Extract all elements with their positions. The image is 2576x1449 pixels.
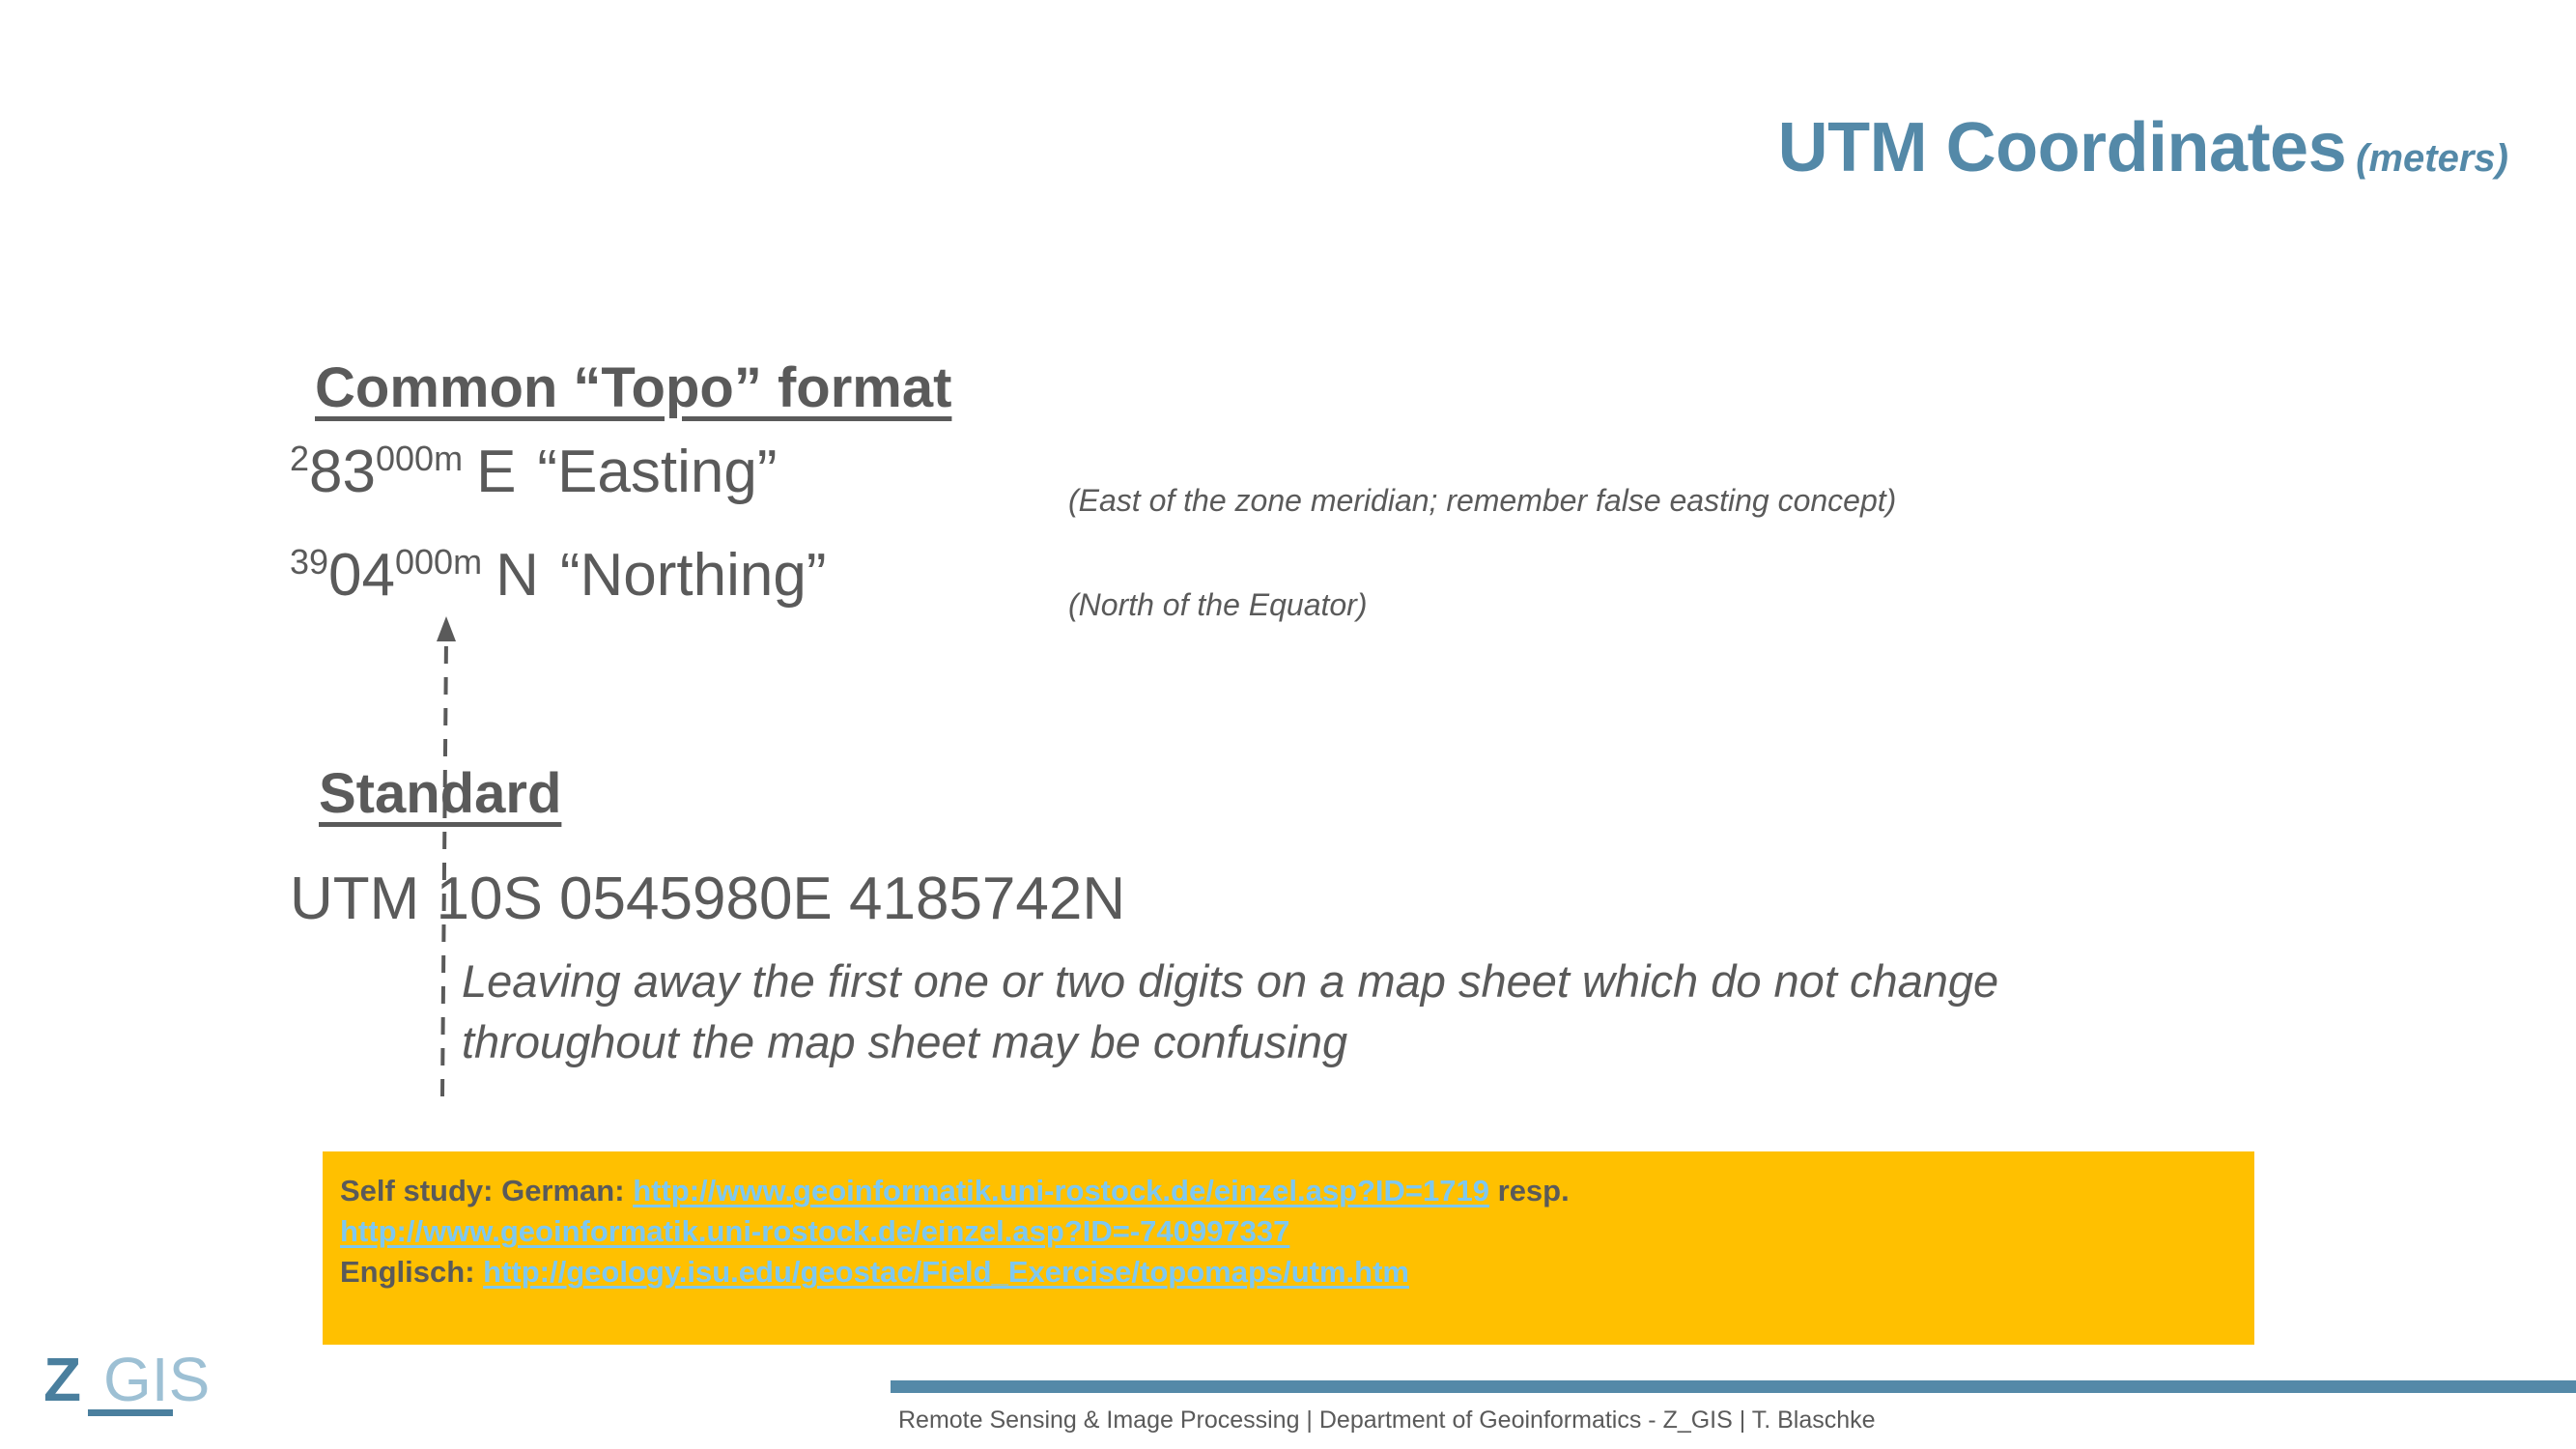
northing-note: (North of the Equator)	[1068, 587, 1367, 623]
slide: UTM Coordinates(meters) Common “Topo” fo…	[0, 0, 2576, 1449]
northing-main-digits: 04	[328, 542, 395, 609]
northing-prefix-superscript: 39	[290, 542, 328, 582]
self-study-line-2: http://www.geoinformatik.uni-rostock.de/…	[340, 1211, 2237, 1252]
page-title-sub: (meters)	[2356, 137, 2508, 180]
zgis-logo: Z GIS	[43, 1349, 256, 1426]
easting-coordinate-line: 283000mE“Easting”	[290, 438, 778, 506]
logo-letters-gis: GIS	[103, 1349, 210, 1410]
northing-suffix-superscript: 000m	[395, 542, 482, 582]
northing-direction-letter: N	[495, 542, 539, 609]
footer-text: Remote Sensing & Image Processing | Depa…	[898, 1406, 1876, 1435]
standard-format-heading: Standard	[319, 761, 561, 826]
northing-label: “Northing”	[560, 542, 827, 609]
logo-letter-z: Z	[43, 1349, 81, 1410]
self-study-line-1: Self study: German: http://www.geoinform…	[340, 1171, 2237, 1211]
easting-main-digits: 83	[309, 439, 376, 505]
logo-underscore	[88, 1409, 173, 1416]
easting-note: (East of the zone meridian; remember fal…	[1068, 483, 1896, 519]
footer-accent-bar	[891, 1380, 2576, 1393]
english-link[interactable]: http://geology.isu.edu/geostac/Field_Exe…	[483, 1255, 1409, 1289]
easting-direction-letter: E	[476, 439, 516, 505]
easting-suffix-superscript: 000m	[376, 439, 463, 478]
standard-coordinate-value: UTM 10S 0545980E 4185742N	[290, 865, 1125, 933]
self-study-line-1-prefix: Self study: German:	[340, 1174, 633, 1207]
page-title: UTM Coordinates(meters)	[1778, 108, 2508, 187]
self-study-line-1-suffix: resp.	[1489, 1174, 1570, 1207]
easting-label: “Easting”	[537, 439, 777, 505]
topo-format-heading: Common “Topo” format	[315, 355, 951, 420]
northing-coordinate-line: 3904000mN“Northing”	[290, 541, 827, 610]
german-link-2[interactable]: http://www.geoinformatik.uni-rostock.de/…	[340, 1214, 1289, 1248]
self-study-box: Self study: German: http://www.geoinform…	[323, 1151, 2254, 1345]
self-study-line-3-prefix: Englisch:	[340, 1255, 483, 1289]
self-study-line-3: Englisch: http://geology.isu.edu/geostac…	[340, 1252, 2237, 1293]
explanation-paragraph: Leaving away the first one or two digits…	[462, 952, 2220, 1072]
german-link-1[interactable]: http://www.geoinformatik.uni-rostock.de/…	[633, 1174, 1489, 1207]
page-title-main: UTM Coordinates	[1778, 109, 2347, 186]
easting-prefix-superscript: 2	[290, 439, 309, 478]
